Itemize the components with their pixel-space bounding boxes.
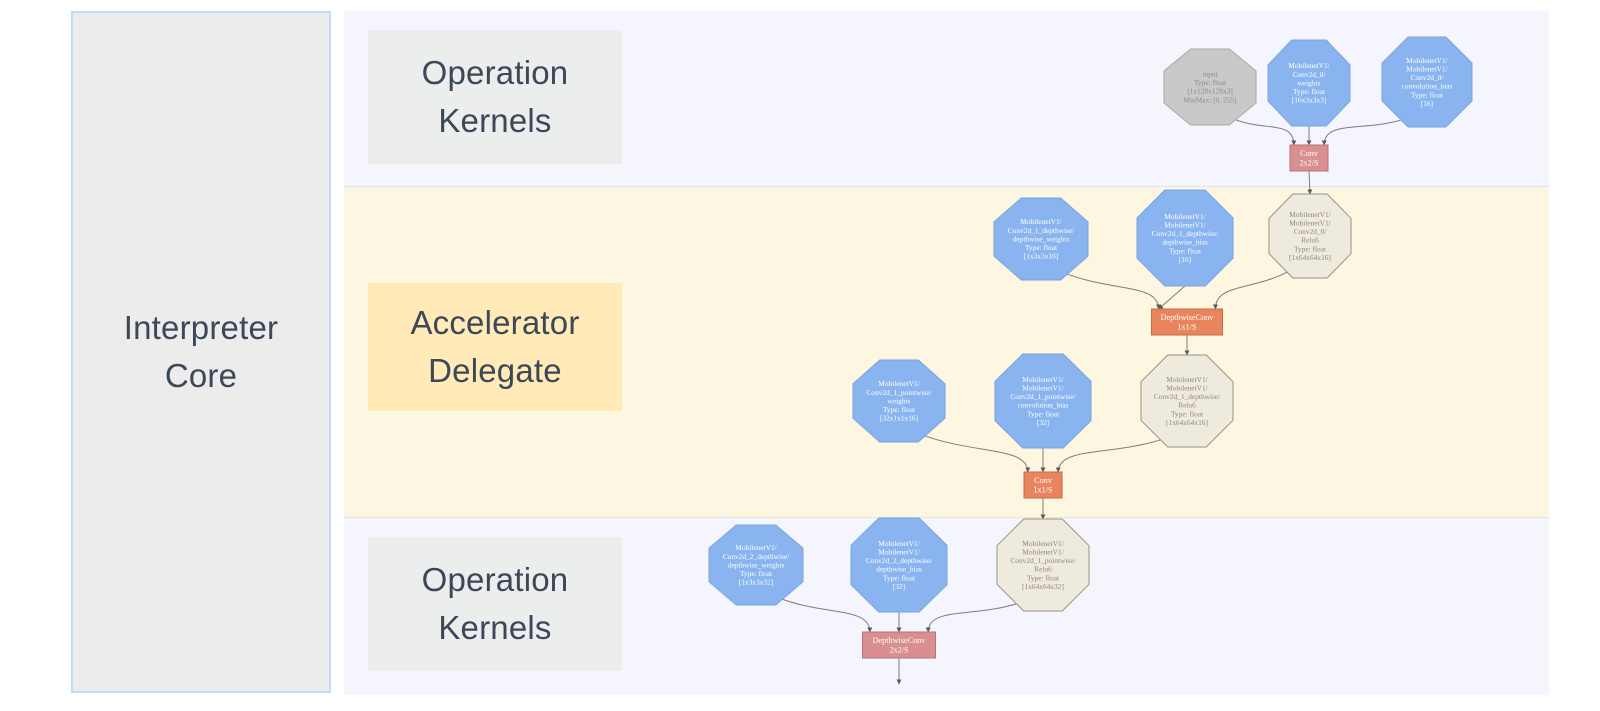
interpreter-core-panel: Interpreter Core (71, 11, 331, 693)
graph-node-conv_1x1_s[interactable]: Conv1x1/S (1024, 472, 1062, 498)
node-label-line: Conv (1034, 476, 1053, 485)
node-label-line: [1x64x64x16] (1289, 253, 1331, 262)
node-label-line: DepthwiseConv (1161, 313, 1215, 322)
node-label-line: [1x3x3x16] (1024, 252, 1059, 261)
node-label-line: [1x3x3x32] (739, 578, 774, 587)
node-label-line: 2x2/S (889, 646, 909, 655)
graph-node-conv2d1_pw_relu6[interactable]: MobilenetV1/MobilenetV1/Conv2d_1_pointwi… (997, 519, 1089, 611)
graph-node-conv2d0_bias[interactable]: MobilenetV1/MobilenetV1/Conv2d_0/convolu… (1382, 37, 1472, 127)
node-label-line: 1x1/S (1033, 486, 1053, 495)
node-label-line: [1x64x64x32] (1022, 582, 1064, 591)
node-label-line: Conv (1300, 149, 1319, 158)
node-label-line: [16x3x3x3] (1292, 96, 1327, 105)
band-label-operation-kernels-top: Operation Kernels (368, 30, 622, 164)
node-label-line: 1x1/S (1177, 323, 1197, 332)
graph-node-conv2d2_dw_weights[interactable]: MobilenetV1/Conv2d_2_depthwise/depthwise… (709, 525, 803, 605)
band-label-operation-kernels-bottom: Operation Kernels (368, 537, 622, 671)
node-label-line: [16] (1421, 99, 1433, 108)
node-label-line: [16] (1179, 255, 1191, 264)
diagram-root: Interpreter Core Operation Kernels Accel… (0, 0, 1600, 711)
interpreter-core-label: Interpreter Core (124, 304, 278, 400)
node-label-line: MinMax: [0, 255] (1183, 95, 1236, 104)
graph-node-conv_2x2_s_top[interactable]: Conv2x2/S (1290, 145, 1328, 171)
graph-node-conv2d2_dw_bias[interactable]: MobilenetV1/MobilenetV1/Conv2d_2_depthwi… (851, 518, 947, 612)
graph-node-conv2d0_weights[interactable]: MobilenetV1/Conv2d_0/weightsType: float[… (1268, 40, 1350, 126)
graph-node-dwconv_1x1_s[interactable]: DepthwiseConv1x1/S (1152, 309, 1223, 335)
node-label-line: [32x1x1x16] (880, 414, 918, 423)
graph-node-conv2d1_dw_weights[interactable]: MobilenetV1/Conv2d_1_depthwise/depthwise… (994, 198, 1088, 280)
band-operation-kernels-top: Operation Kernels (344, 11, 1549, 187)
graph-node-conv2d1_dw_bias[interactable]: MobilenetV1/MobilenetV1/Conv2d_1_depthwi… (1137, 190, 1233, 286)
band-accelerator-delegate: Accelerator Delegate (344, 187, 1549, 518)
node-label-line: DepthwiseConv (873, 636, 927, 645)
graph-node-conv2d1_dw_relu6[interactable]: MobilenetV1/MobilenetV1/Conv2d_1_depthwi… (1141, 355, 1233, 447)
graph-node-conv2d1_pw_weights[interactable]: MobilenetV1/Conv2d_1_pointwise/weightsTy… (853, 360, 945, 442)
graph-node-dwconv_2x2_s_bottom[interactable]: DepthwiseConv2x2/S (863, 632, 936, 658)
node-label-line: 2x2/S (1299, 159, 1319, 168)
graph-panel: Operation Kernels Accelerator Delegate O… (344, 11, 1549, 695)
node-label-line: [32] (1037, 418, 1049, 427)
graph-node-conv2d0_relu6[interactable]: MobilenetV1/MobilenetV1/Conv2d_0/Relu6Ty… (1269, 194, 1351, 278)
band-label-accelerator-delegate: Accelerator Delegate (368, 283, 622, 411)
node-label-line: [32] (893, 582, 905, 591)
graph-node-input[interactable]: inputType: float[1x128x128x3]MinMax: [0,… (1164, 49, 1256, 125)
graph-node-conv2d1_pw_bias[interactable]: MobilenetV1/MobilenetV1/Conv2d_1_pointwi… (995, 354, 1091, 448)
node-label-line: [1x64x64x16] (1166, 418, 1208, 427)
